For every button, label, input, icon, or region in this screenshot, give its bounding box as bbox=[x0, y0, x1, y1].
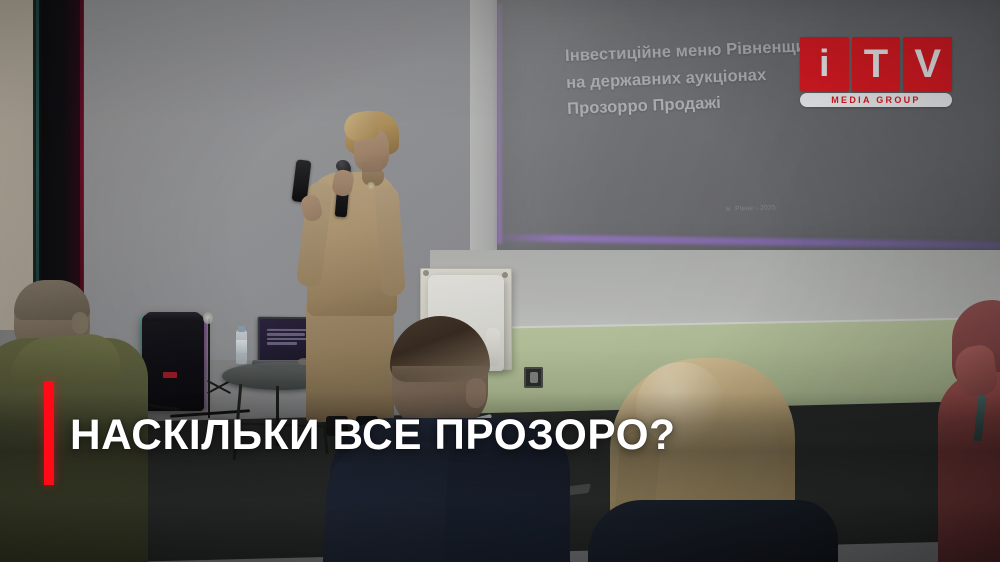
microphone-stand-pole bbox=[208, 318, 210, 418]
power-outlet-socket bbox=[530, 372, 538, 383]
speaker-brand-badge bbox=[163, 372, 177, 378]
presenter-necklace bbox=[367, 182, 375, 190]
caption-accent-bar bbox=[44, 381, 54, 485]
water-bottle-cap bbox=[238, 326, 245, 332]
logo-tile-t: T bbox=[852, 37, 901, 91]
audience-center-ear bbox=[466, 378, 486, 408]
water-bottle-label bbox=[236, 340, 247, 353]
spare-microphone-head bbox=[203, 312, 213, 324]
flipchart-knob-left bbox=[423, 270, 429, 276]
logo-tile-v: V bbox=[903, 37, 952, 91]
logo-tagline: MEDIA GROUP bbox=[800, 93, 952, 107]
jbl-pa-speaker bbox=[142, 314, 204, 411]
broadcast-video-frame: Інвестиційне меню Рівненщини на державни… bbox=[0, 0, 1000, 562]
speaker-top-panel bbox=[145, 312, 201, 321]
audience-left-ear bbox=[72, 312, 88, 334]
audience-far-right-body bbox=[938, 372, 1000, 562]
slide-footnote: м. Рівне - 2025 bbox=[726, 204, 776, 212]
caption-headline: НАСКІЛЬКИ ВСЕ ПРОЗОРО? bbox=[70, 414, 937, 457]
flipchart-knob-right bbox=[502, 272, 508, 278]
presenter-skirt bbox=[306, 300, 394, 422]
screen-purple-glow-left bbox=[497, 4, 502, 244]
channel-logo-bug: i T V MEDIA GROUP bbox=[800, 37, 952, 107]
logo-tile-row: i T V bbox=[800, 37, 952, 91]
logo-tile-i: i bbox=[800, 37, 849, 91]
audience-right-body bbox=[588, 500, 838, 562]
